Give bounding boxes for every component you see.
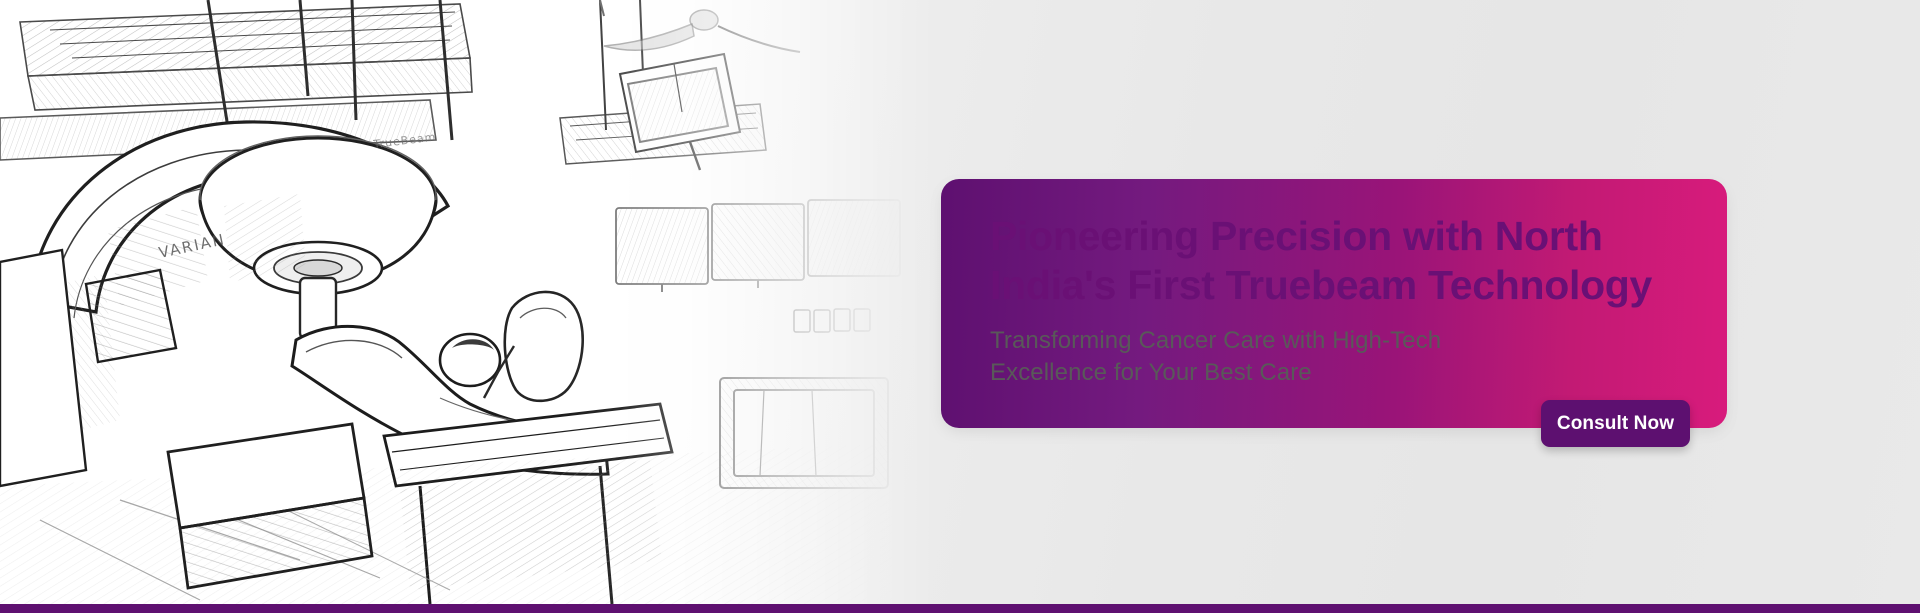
footer-accent-bar (0, 604, 1920, 613)
hero-subtitle: Transforming Cancer Care with High-Tech … (990, 325, 1684, 389)
hero-banner: VARIAN TrueBeam (0, 0, 1920, 613)
hero-title: Pioneering Precision with North India's … (990, 212, 1684, 310)
truebeam-linear-accelerator-sketch: VARIAN TrueBeam (0, 0, 960, 604)
consult-now-button[interactable]: Consult Now (1541, 400, 1690, 447)
hero-card: Pioneering Precision with North India's … (944, 182, 1724, 425)
